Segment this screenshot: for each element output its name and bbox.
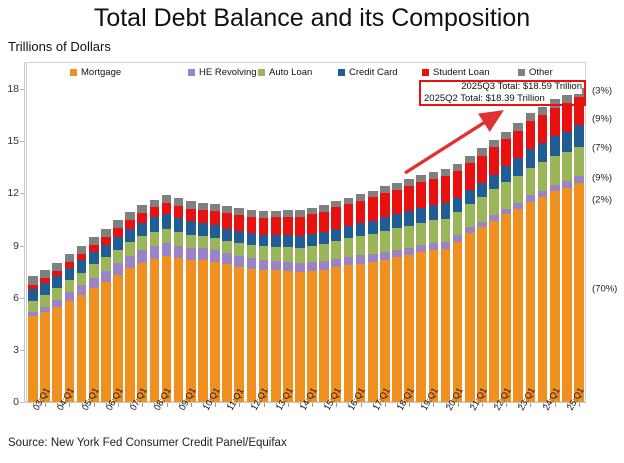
bar-series-group bbox=[27, 63, 585, 402]
bar-segment-credit-card bbox=[28, 289, 38, 301]
bar-segment-auto-loan bbox=[283, 247, 293, 261]
bar-segment-other bbox=[28, 276, 38, 284]
bar-segment-auto-loan bbox=[113, 250, 123, 264]
y-tick-label: 3 bbox=[0, 344, 19, 356]
bar-segment-student-loan bbox=[234, 215, 244, 231]
bar-segment-other bbox=[271, 211, 281, 218]
callout-line-q3: 2025Q3 Total: $18.59 Trillion bbox=[461, 81, 582, 92]
bar-column bbox=[574, 88, 584, 402]
bar-segment-credit-card bbox=[89, 252, 99, 265]
bar-segment-he-revolving bbox=[52, 300, 62, 307]
bar-segment-auto-loan bbox=[162, 229, 172, 243]
bar-segment-auto-loan bbox=[538, 162, 548, 190]
bar-column bbox=[150, 199, 160, 402]
bar-segment-other bbox=[150, 200, 160, 208]
bar-segment-credit-card bbox=[247, 233, 257, 245]
bar-segment-auto-loan bbox=[234, 243, 244, 256]
bar-segment-other bbox=[416, 175, 426, 182]
bar-segment-auto-loan bbox=[465, 204, 475, 228]
bar-column bbox=[416, 175, 426, 402]
bar-segment-he-revolving bbox=[429, 243, 439, 250]
y-tick-label: 6 bbox=[0, 292, 19, 304]
bar-segment-credit-card bbox=[441, 203, 451, 218]
bar-segment-he-revolving bbox=[77, 285, 87, 295]
bar-segment-credit-card bbox=[574, 125, 584, 146]
legend-label: Auto Loan bbox=[269, 67, 312, 78]
bar-segment-auto-loan bbox=[380, 231, 390, 252]
bar-segment-mortgage bbox=[429, 250, 439, 402]
bar-segment-student-loan bbox=[101, 237, 111, 245]
bar-segment-mortgage bbox=[344, 265, 354, 402]
bar-segment-credit-card bbox=[513, 158, 523, 175]
bar-segment-other bbox=[222, 206, 232, 213]
bar-segment-credit-card bbox=[380, 217, 390, 231]
bar-column bbox=[234, 208, 244, 402]
bar-segment-credit-card bbox=[101, 245, 111, 258]
bar-column bbox=[222, 206, 232, 402]
bar-segment-he-revolving bbox=[295, 263, 305, 272]
bar-segment-mortgage bbox=[416, 252, 426, 402]
bar-segment-mortgage bbox=[368, 262, 378, 402]
bar-column bbox=[52, 263, 62, 402]
total-balance-callout: 2025Q3 Total: $18.59 Trillion 2025Q2 Tot… bbox=[419, 80, 586, 106]
bar-segment-credit-card bbox=[416, 208, 426, 223]
percent-label-he-revolving: (2%) bbox=[592, 195, 612, 206]
bar-segment-other bbox=[392, 183, 402, 190]
bar-segment-he-revolving bbox=[331, 259, 341, 268]
bar-segment-student-loan bbox=[307, 214, 317, 234]
bar-segment-other bbox=[489, 140, 499, 147]
bar-segment-other bbox=[429, 172, 439, 179]
legend-item-credit-card[interactable]: Credit Card bbox=[338, 67, 398, 78]
bar-segment-mortgage bbox=[259, 270, 269, 402]
bar-segment-auto-loan bbox=[89, 264, 99, 277]
bar-segment-auto-loan bbox=[186, 235, 196, 248]
bar-segment-credit-card bbox=[538, 143, 548, 162]
bar-column bbox=[453, 163, 463, 402]
bar-segment-student-loan bbox=[247, 217, 257, 234]
bar-segment-auto-loan bbox=[271, 247, 281, 261]
bar-segment-credit-card bbox=[392, 214, 402, 228]
bar-segment-student-loan bbox=[344, 204, 354, 226]
bar-segment-credit-card bbox=[319, 232, 329, 244]
bar-segment-mortgage bbox=[137, 263, 147, 402]
bar-segment-mortgage bbox=[234, 267, 244, 402]
bar-segment-credit-card bbox=[52, 276, 62, 288]
bar-segment-he-revolving bbox=[562, 181, 572, 188]
bar-segment-student-loan bbox=[441, 176, 451, 203]
bar-segment-student-loan bbox=[465, 163, 475, 190]
bar-segment-credit-card bbox=[65, 268, 75, 280]
bar-segment-student-loan bbox=[368, 197, 378, 220]
bar-column bbox=[319, 205, 329, 402]
bar-segment-mortgage bbox=[441, 249, 451, 402]
page-title: Total Debt Balance and its Composition bbox=[0, 4, 624, 33]
bar-segment-he-revolving bbox=[222, 253, 232, 264]
y-axis-line bbox=[24, 62, 25, 403]
bar-segment-credit-card bbox=[562, 132, 572, 153]
bar-column bbox=[501, 132, 511, 403]
legend-item-auto-loan[interactable]: Auto Loan bbox=[258, 67, 312, 78]
bar-segment-other bbox=[125, 212, 135, 220]
bar-segment-auto-loan bbox=[404, 226, 414, 248]
bar-segment-credit-card bbox=[550, 136, 560, 156]
bar-segment-auto-loan bbox=[356, 236, 366, 256]
bar-segment-auto-loan bbox=[198, 236, 208, 249]
bar-segment-auto-loan bbox=[319, 244, 329, 261]
bar-segment-credit-card bbox=[174, 218, 184, 232]
bar-column bbox=[210, 204, 220, 402]
bar-segment-other bbox=[344, 198, 354, 205]
bar-segment-other bbox=[356, 194, 366, 201]
bar-segment-auto-loan bbox=[101, 257, 111, 271]
bar-segment-other bbox=[40, 270, 50, 278]
bar-segment-student-loan bbox=[453, 171, 463, 198]
bar-segment-other bbox=[210, 204, 220, 211]
bar-segment-mortgage bbox=[150, 259, 160, 402]
percent-label-student-loan: (9%) bbox=[592, 113, 612, 124]
bar-segment-other bbox=[513, 123, 523, 131]
bar-segment-credit-card bbox=[162, 214, 172, 229]
bar-segment-student-loan bbox=[174, 206, 184, 217]
bar-column bbox=[247, 210, 257, 402]
bar-segment-other bbox=[538, 107, 548, 115]
legend-label: HE Revolving bbox=[199, 67, 257, 78]
bar-segment-other bbox=[283, 210, 293, 217]
bar-segment-mortgage bbox=[198, 260, 208, 402]
bar-segment-student-loan bbox=[222, 213, 232, 228]
bar-segment-mortgage bbox=[404, 255, 414, 402]
bar-segment-credit-card bbox=[344, 226, 354, 238]
bar-column bbox=[174, 198, 184, 402]
bar-segment-he-revolving bbox=[113, 263, 123, 275]
bar-segment-other bbox=[89, 237, 99, 245]
bar-segment-mortgage bbox=[113, 275, 123, 402]
bar-segment-other bbox=[234, 208, 244, 215]
chart-container: Total Debt Balance and its Composition T… bbox=[0, 0, 624, 463]
bar-segment-auto-loan bbox=[125, 242, 135, 256]
bar-segment-student-loan bbox=[210, 211, 220, 225]
bar-segment-he-revolving bbox=[380, 252, 390, 260]
bar-segment-auto-loan bbox=[331, 241, 341, 259]
bar-segment-auto-loan bbox=[52, 288, 62, 300]
bar-segment-auto-loan bbox=[77, 273, 87, 286]
bar-column bbox=[162, 195, 172, 402]
bar-segment-he-revolving bbox=[574, 176, 584, 183]
bar-segment-student-loan bbox=[150, 207, 160, 217]
bar-segment-other bbox=[331, 201, 341, 208]
bar-segment-other bbox=[441, 169, 451, 176]
bar-column bbox=[307, 208, 317, 402]
bar-segment-other bbox=[453, 164, 463, 171]
bar-segment-student-loan bbox=[113, 228, 123, 236]
bar-segment-other bbox=[259, 211, 269, 218]
bar-segment-mortgage bbox=[283, 271, 293, 402]
bar-column bbox=[259, 211, 269, 402]
bar-segment-auto-loan bbox=[40, 295, 50, 307]
bar-segment-auto-loan bbox=[210, 238, 220, 250]
bar-segment-student-loan bbox=[283, 217, 293, 235]
bar-segment-he-revolving bbox=[441, 242, 451, 249]
bar-segment-auto-loan bbox=[368, 234, 378, 254]
bar-segment-credit-card bbox=[125, 229, 135, 242]
bar-segment-student-loan bbox=[331, 207, 341, 228]
bar-segment-student-loan bbox=[489, 147, 499, 175]
bar-segment-he-revolving bbox=[65, 292, 75, 300]
bar-segment-auto-loan bbox=[453, 212, 463, 236]
bar-segment-credit-card bbox=[283, 235, 293, 247]
bar-segment-credit-card bbox=[137, 223, 147, 237]
bar-segment-auto-loan bbox=[174, 232, 184, 246]
bar-segment-student-loan bbox=[562, 103, 572, 131]
x-axis-labels: 03:Q104:Q105:Q106:Q107:Q108:Q109:Q110:Q1… bbox=[0, 405, 624, 437]
bar-segment-mortgage bbox=[513, 209, 523, 402]
bar-segment-auto-loan bbox=[307, 246, 317, 262]
bar-segment-he-revolving bbox=[150, 246, 160, 259]
bar-segment-other bbox=[247, 210, 257, 217]
bar-segment-mortgage bbox=[526, 202, 536, 402]
bar-segment-he-revolving bbox=[101, 271, 111, 282]
bar-segment-student-loan bbox=[125, 220, 135, 229]
bar-segment-auto-loan bbox=[441, 219, 451, 242]
bar-segment-he-revolving bbox=[198, 248, 208, 260]
bar-segment-auto-loan bbox=[150, 232, 160, 246]
percent-label-other: (3%) bbox=[592, 85, 612, 96]
bar-column bbox=[28, 276, 38, 402]
bar-segment-credit-card bbox=[271, 235, 281, 246]
bar-segment-student-loan bbox=[513, 131, 523, 159]
bar-segment-he-revolving bbox=[416, 245, 426, 252]
bar-segment-student-loan bbox=[538, 115, 548, 143]
bar-segment-credit-card bbox=[331, 229, 341, 241]
bar-segment-auto-loan bbox=[562, 152, 572, 181]
bar-column bbox=[271, 211, 281, 402]
bar-segment-other bbox=[77, 246, 87, 254]
bar-column bbox=[538, 107, 548, 402]
bar-segment-auto-loan bbox=[137, 236, 147, 250]
bar-segment-student-loan bbox=[137, 213, 147, 223]
bar-segment-he-revolving bbox=[344, 257, 354, 265]
bar-column bbox=[429, 171, 439, 402]
bar-segment-other bbox=[137, 205, 147, 213]
bar-column bbox=[465, 156, 475, 403]
bar-segment-he-revolving bbox=[186, 248, 196, 260]
bar-segment-other bbox=[404, 179, 414, 186]
bar-segment-he-revolving bbox=[162, 243, 172, 256]
bar-column bbox=[77, 246, 87, 402]
bar-column bbox=[404, 179, 414, 402]
bar-segment-he-revolving bbox=[89, 278, 99, 288]
bar-segment-he-revolving bbox=[404, 248, 414, 255]
bar-segment-student-loan bbox=[392, 190, 402, 215]
legend-swatch-icon bbox=[188, 69, 195, 76]
bar-segment-auto-loan bbox=[574, 147, 584, 176]
bar-segment-other bbox=[174, 198, 184, 206]
bar-segment-other bbox=[368, 191, 378, 198]
bar-segment-student-loan bbox=[429, 179, 439, 205]
legend-swatch-icon bbox=[518, 69, 525, 76]
bar-segment-mortgage bbox=[295, 272, 305, 402]
bar-column bbox=[513, 123, 523, 402]
bar-segment-he-revolving bbox=[356, 255, 366, 263]
percent-label-mortgage: (70%) bbox=[592, 284, 617, 295]
y-axis: 0369121518 bbox=[0, 62, 24, 403]
bar-segment-mortgage bbox=[247, 269, 257, 402]
bar-segment-mortgage bbox=[392, 257, 402, 402]
chart-legend: MortgageHE RevolvingAuto LoanCredit Card… bbox=[27, 63, 585, 81]
bar-column bbox=[198, 203, 208, 402]
bar-segment-auto-loan bbox=[247, 245, 257, 258]
bar-segment-other bbox=[526, 113, 536, 121]
bar-segment-auto-loan bbox=[477, 197, 487, 222]
bar-segment-other bbox=[501, 132, 511, 139]
bar-segment-other bbox=[65, 254, 75, 262]
bar-segment-student-loan bbox=[259, 218, 269, 235]
bar-segment-credit-card bbox=[307, 234, 317, 246]
bar-column bbox=[125, 212, 135, 402]
bar-segment-credit-card bbox=[368, 221, 378, 234]
bar-column bbox=[331, 201, 341, 402]
bar-column bbox=[489, 140, 499, 402]
legend-label: Credit Card bbox=[349, 67, 398, 78]
bar-segment-he-revolving bbox=[368, 254, 378, 262]
bar-segment-he-revolving bbox=[234, 256, 244, 267]
bar-segment-student-loan bbox=[404, 186, 414, 211]
bar-segment-he-revolving bbox=[174, 246, 184, 258]
percent-label-auto-loan: (9%) bbox=[592, 172, 612, 183]
bar-column bbox=[89, 237, 99, 402]
legend-item-student-loan[interactable]: Student Loan bbox=[422, 67, 490, 78]
bar-segment-auto-loan bbox=[513, 176, 523, 203]
bar-segment-auto-loan bbox=[429, 220, 439, 243]
bar-segment-credit-card bbox=[489, 175, 499, 190]
bar-segment-he-revolving bbox=[307, 262, 317, 271]
y-tick-label: 18 bbox=[0, 83, 19, 95]
bar-segment-auto-loan bbox=[344, 238, 354, 257]
bar-column bbox=[40, 270, 50, 402]
bar-segment-mortgage bbox=[101, 282, 111, 402]
bar-segment-credit-card bbox=[113, 237, 123, 250]
bar-segment-credit-card bbox=[429, 205, 439, 220]
bar-segment-he-revolving bbox=[210, 250, 220, 262]
source-note: Source: New York Fed Consumer Credit Pan… bbox=[8, 437, 287, 449]
bar-segment-other bbox=[380, 186, 390, 193]
bar-segment-credit-card bbox=[198, 223, 208, 236]
bar-segment-he-revolving bbox=[125, 256, 135, 268]
bar-column bbox=[380, 186, 390, 402]
legend-swatch-icon bbox=[258, 69, 265, 76]
bar-segment-other bbox=[198, 203, 208, 210]
bar-segment-credit-card bbox=[526, 149, 536, 168]
bar-segment-student-loan bbox=[550, 108, 560, 136]
y-tick-label: 9 bbox=[0, 240, 19, 252]
bar-segment-mortgage bbox=[319, 270, 329, 402]
bar-segment-credit-card bbox=[234, 231, 244, 243]
bar-segment-credit-card bbox=[295, 236, 305, 247]
bar-segment-he-revolving bbox=[283, 262, 293, 271]
bar-segment-student-loan bbox=[416, 182, 426, 208]
callout-line-q2: 2025Q2 Total: $18.39 Trillion bbox=[423, 93, 546, 104]
bar-segment-student-loan bbox=[477, 156, 487, 183]
bar-segment-he-revolving bbox=[271, 261, 281, 271]
bar-segment-mortgage bbox=[356, 264, 366, 402]
bar-segment-auto-loan bbox=[526, 168, 536, 196]
bar-segment-credit-card bbox=[210, 225, 220, 238]
legend-label: Mortgage bbox=[81, 67, 121, 78]
legend-swatch-icon bbox=[70, 69, 77, 76]
bar-segment-auto-loan bbox=[416, 223, 426, 245]
bar-column bbox=[368, 191, 378, 402]
legend-item-mortgage[interactable]: Mortgage bbox=[70, 67, 121, 78]
bar-segment-mortgage bbox=[477, 227, 487, 402]
bar-segment-mortgage bbox=[271, 270, 281, 402]
chart-subtitle: Trillions of Dollars bbox=[8, 39, 111, 54]
bar-segment-credit-card bbox=[404, 211, 414, 226]
bar-segment-mortgage bbox=[574, 183, 584, 402]
bar-segment-auto-loan bbox=[65, 280, 75, 293]
bar-segment-other bbox=[465, 156, 475, 163]
bar-segment-student-loan bbox=[501, 139, 511, 166]
bar-column bbox=[441, 169, 451, 402]
legend-item-he-revolving[interactable]: HE Revolving bbox=[188, 67, 257, 78]
bar-segment-mortgage bbox=[52, 307, 62, 402]
bar-column bbox=[356, 194, 366, 402]
bar-segment-credit-card bbox=[150, 217, 160, 232]
bar-segment-he-revolving bbox=[247, 258, 257, 269]
y-tick-label: 15 bbox=[0, 135, 19, 147]
legend-label: Student Loan bbox=[433, 67, 490, 78]
bar-segment-he-revolving bbox=[259, 260, 269, 270]
bar-column bbox=[101, 229, 111, 402]
legend-item-other[interactable]: Other bbox=[518, 67, 553, 78]
bar-segment-credit-card bbox=[453, 198, 463, 212]
bar-column bbox=[392, 183, 402, 402]
bar-segment-auto-loan bbox=[501, 182, 511, 208]
bar-segment-mortgage bbox=[210, 262, 220, 402]
bar-segment-mortgage bbox=[453, 242, 463, 402]
bar-segment-he-revolving bbox=[319, 261, 329, 270]
bar-column bbox=[477, 148, 487, 402]
bar-column bbox=[186, 201, 196, 402]
bar-segment-auto-loan bbox=[28, 301, 38, 312]
bar-segment-student-loan bbox=[162, 203, 172, 214]
bar-segment-other bbox=[477, 148, 487, 155]
bar-column bbox=[137, 205, 147, 402]
bar-segment-mortgage bbox=[331, 267, 341, 402]
bar-segment-student-loan bbox=[271, 217, 281, 235]
bar-segment-auto-loan bbox=[392, 228, 402, 249]
bar-segment-auto-loan bbox=[489, 189, 499, 215]
bar-segment-mortgage bbox=[28, 316, 38, 402]
composition-percent-labels: (3%)(9%)(7%)(9%)(2%)(70%) bbox=[588, 62, 624, 403]
bar-segment-mortgage bbox=[222, 264, 232, 402]
bar-segment-mortgage bbox=[538, 197, 548, 402]
bar-segment-credit-card bbox=[465, 190, 475, 203]
bar-segment-mortgage bbox=[77, 295, 87, 402]
bar-segment-credit-card bbox=[186, 221, 196, 235]
percent-label-credit-card: (7%) bbox=[592, 143, 612, 154]
bar-segment-mortgage bbox=[562, 188, 572, 402]
bar-segment-mortgage bbox=[89, 288, 99, 402]
bar-segment-he-revolving bbox=[538, 191, 548, 198]
bar-segment-credit-card bbox=[259, 235, 269, 247]
bar-segment-student-loan bbox=[295, 217, 305, 236]
legend-label: Other bbox=[529, 67, 553, 78]
bar-segment-auto-loan bbox=[550, 156, 560, 185]
bar-segment-auto-loan bbox=[259, 246, 269, 260]
bar-segment-credit-card bbox=[40, 283, 50, 295]
bar-column bbox=[295, 210, 305, 402]
